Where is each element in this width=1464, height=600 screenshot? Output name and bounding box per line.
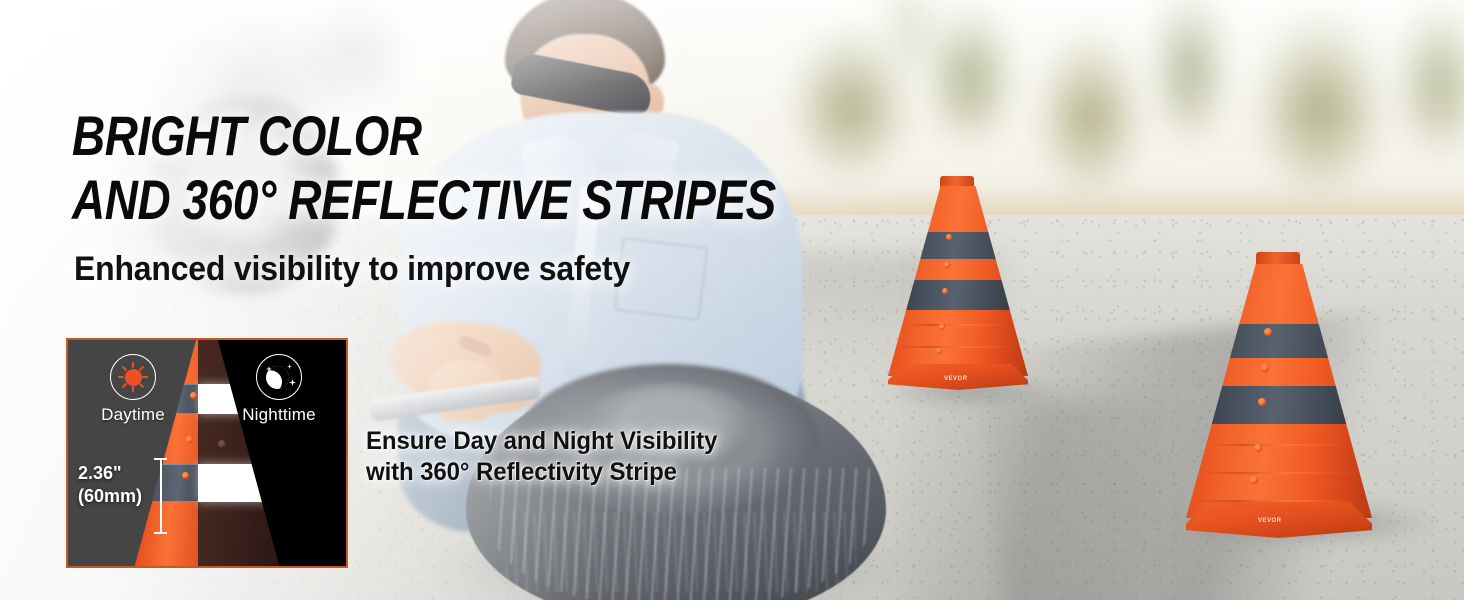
cone-base-logo-back: VEVOR [944, 376, 968, 382]
cone-reflective-stripe-lower-back [888, 280, 1028, 310]
cone-rib-front-2 [1201, 472, 1357, 474]
cone-rivet-front-1 [1264, 328, 1272, 336]
sun-ray-6 [122, 383, 127, 388]
dimension-bracket-line [160, 458, 162, 534]
cone-rivet-back-5 [936, 348, 942, 354]
sun-ray-2 [139, 366, 144, 371]
cone-rivet-back-1 [946, 234, 952, 240]
daytime-indicator: Daytime [82, 354, 184, 425]
cone-rivet-front-2 [1261, 364, 1269, 372]
daytime-label: Daytime [82, 405, 184, 425]
sun-ray-8 [122, 366, 127, 371]
cone-rivet-back-4 [939, 324, 945, 330]
sun-ray-7 [118, 376, 124, 378]
cone-rivet-front-5 [1250, 476, 1258, 484]
nighttime-indicator: Nighttime [224, 354, 334, 425]
cone-rivet-back-3 [942, 288, 948, 294]
sun-ray-5 [132, 387, 134, 393]
moon-crescent [263, 363, 292, 392]
subheadline: Enhanced visibility to improve safety [74, 250, 630, 289]
sun-ray-4 [139, 383, 144, 388]
sun-ray-1 [132, 362, 134, 368]
cone-reflective-stripe-upper-front [1186, 324, 1372, 358]
dimension-bracket-bottom-cap [154, 532, 167, 534]
cone-base-logo-front: VEVOR [1258, 518, 1282, 524]
cone-reflective-stripe-lower-front [1186, 386, 1372, 424]
dimension-metric: (60mm) [78, 485, 142, 508]
cone-body-back [888, 186, 1028, 376]
cone-rib-front-3 [1193, 500, 1364, 502]
star-3 [289, 379, 296, 386]
dimension-callout: 2.36" (60mm) [78, 462, 142, 508]
nighttime-label: Nighttime [224, 405, 334, 425]
cone-rib-front-1 [1208, 444, 1349, 446]
inset-rivet-1 [190, 392, 197, 399]
dimension-bracket [154, 458, 167, 534]
body-copy: Ensure Day and Night Visibility with 360… [366, 426, 717, 488]
moon-icon [256, 354, 302, 400]
headline-line-1: BRIGHT COLOR [72, 104, 776, 168]
traffic-cone-front: VEVOR [1186, 252, 1372, 540]
cone-rivet-back-2 [944, 262, 950, 268]
body-copy-line-2: with 360° Reflectivity Stripe [366, 457, 717, 488]
star-2 [287, 364, 292, 369]
headline-line-2: AND 360° REFLECTIVE STRIPES [72, 168, 776, 232]
inset-rivet-night-1 [218, 440, 226, 448]
sun-ray-3 [143, 376, 149, 378]
inset-rivet-3 [182, 472, 189, 479]
body-copy-line-1: Ensure Day and Night Visibility [366, 426, 717, 457]
day-night-comparison-panel: Daytime Nighttime 2.36" (60mm) [66, 338, 348, 568]
cone-reflective-stripe-upper-back [888, 232, 1028, 259]
cone-rib-back-2 [899, 346, 1017, 348]
cone-rib-back-1 [905, 324, 1011, 326]
product-marketing-banner: VEVOR VEVOR BRIGHT COLOR AND 360° REFLEC… [0, 0, 1464, 600]
cone-rivet-front-4 [1254, 444, 1262, 452]
sun-icon [110, 354, 156, 400]
top-highlight-overlay [0, 0, 1464, 120]
cone-rivet-front-3 [1258, 398, 1266, 406]
dimension-imperial: 2.36" [78, 462, 142, 485]
traffic-cone-back: VEVOR [888, 176, 1028, 391]
page-title: BRIGHT COLOR AND 360° REFLECTIVE STRIPES [72, 104, 776, 232]
inset-rivet-2 [186, 436, 193, 443]
cone-body-front [1186, 264, 1372, 518]
inset-stripe-night-lower [198, 464, 282, 502]
